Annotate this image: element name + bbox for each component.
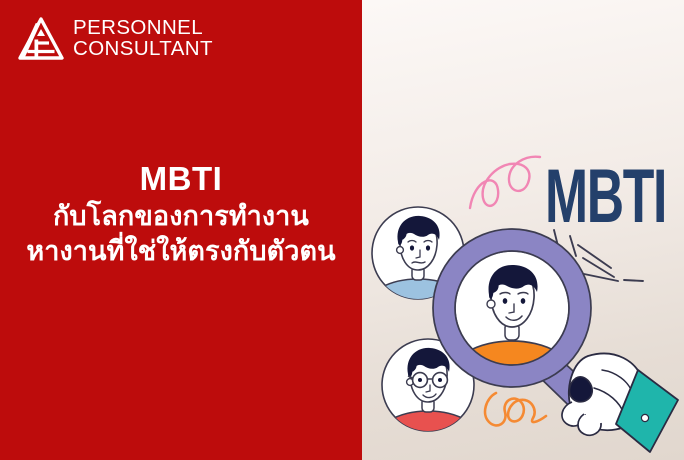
headline-line-thai-1: กับโลกของการทำงาน <box>0 199 362 234</box>
brand-wordmark-line2: CONSULTANT <box>73 39 213 60</box>
brand-logo[interactable]: PERSONNEL CONSULTANT <box>18 17 213 61</box>
squiggle-pink <box>470 157 540 208</box>
mbti-promo-banner: PERSONNEL CONSULTANT MBTI กับโลกของการทำ… <box>0 0 684 460</box>
illustration-panel: MBTI <box>362 0 684 460</box>
headline-line-thai-2: หางานที่ใช่ให้ตรงกับตัวตน <box>0 234 362 269</box>
mbti-illustration: MBTI <box>362 0 684 460</box>
mbti-wordmark: MBTI <box>545 154 666 239</box>
headline-block: MBTI กับโลกของการทำงาน หางานที่ใช่ให้ตรง… <box>0 160 362 269</box>
brand-wordmark: PERSONNEL CONSULTANT <box>73 18 213 60</box>
squiggle-orange <box>485 393 546 425</box>
brand-wordmark-line1: PERSONNEL <box>73 18 213 39</box>
hand-holding-magnifier <box>562 354 678 452</box>
personnel-consultant-triangle-mark <box>18 17 64 61</box>
headline-line-mbti: MBTI <box>0 160 362 199</box>
